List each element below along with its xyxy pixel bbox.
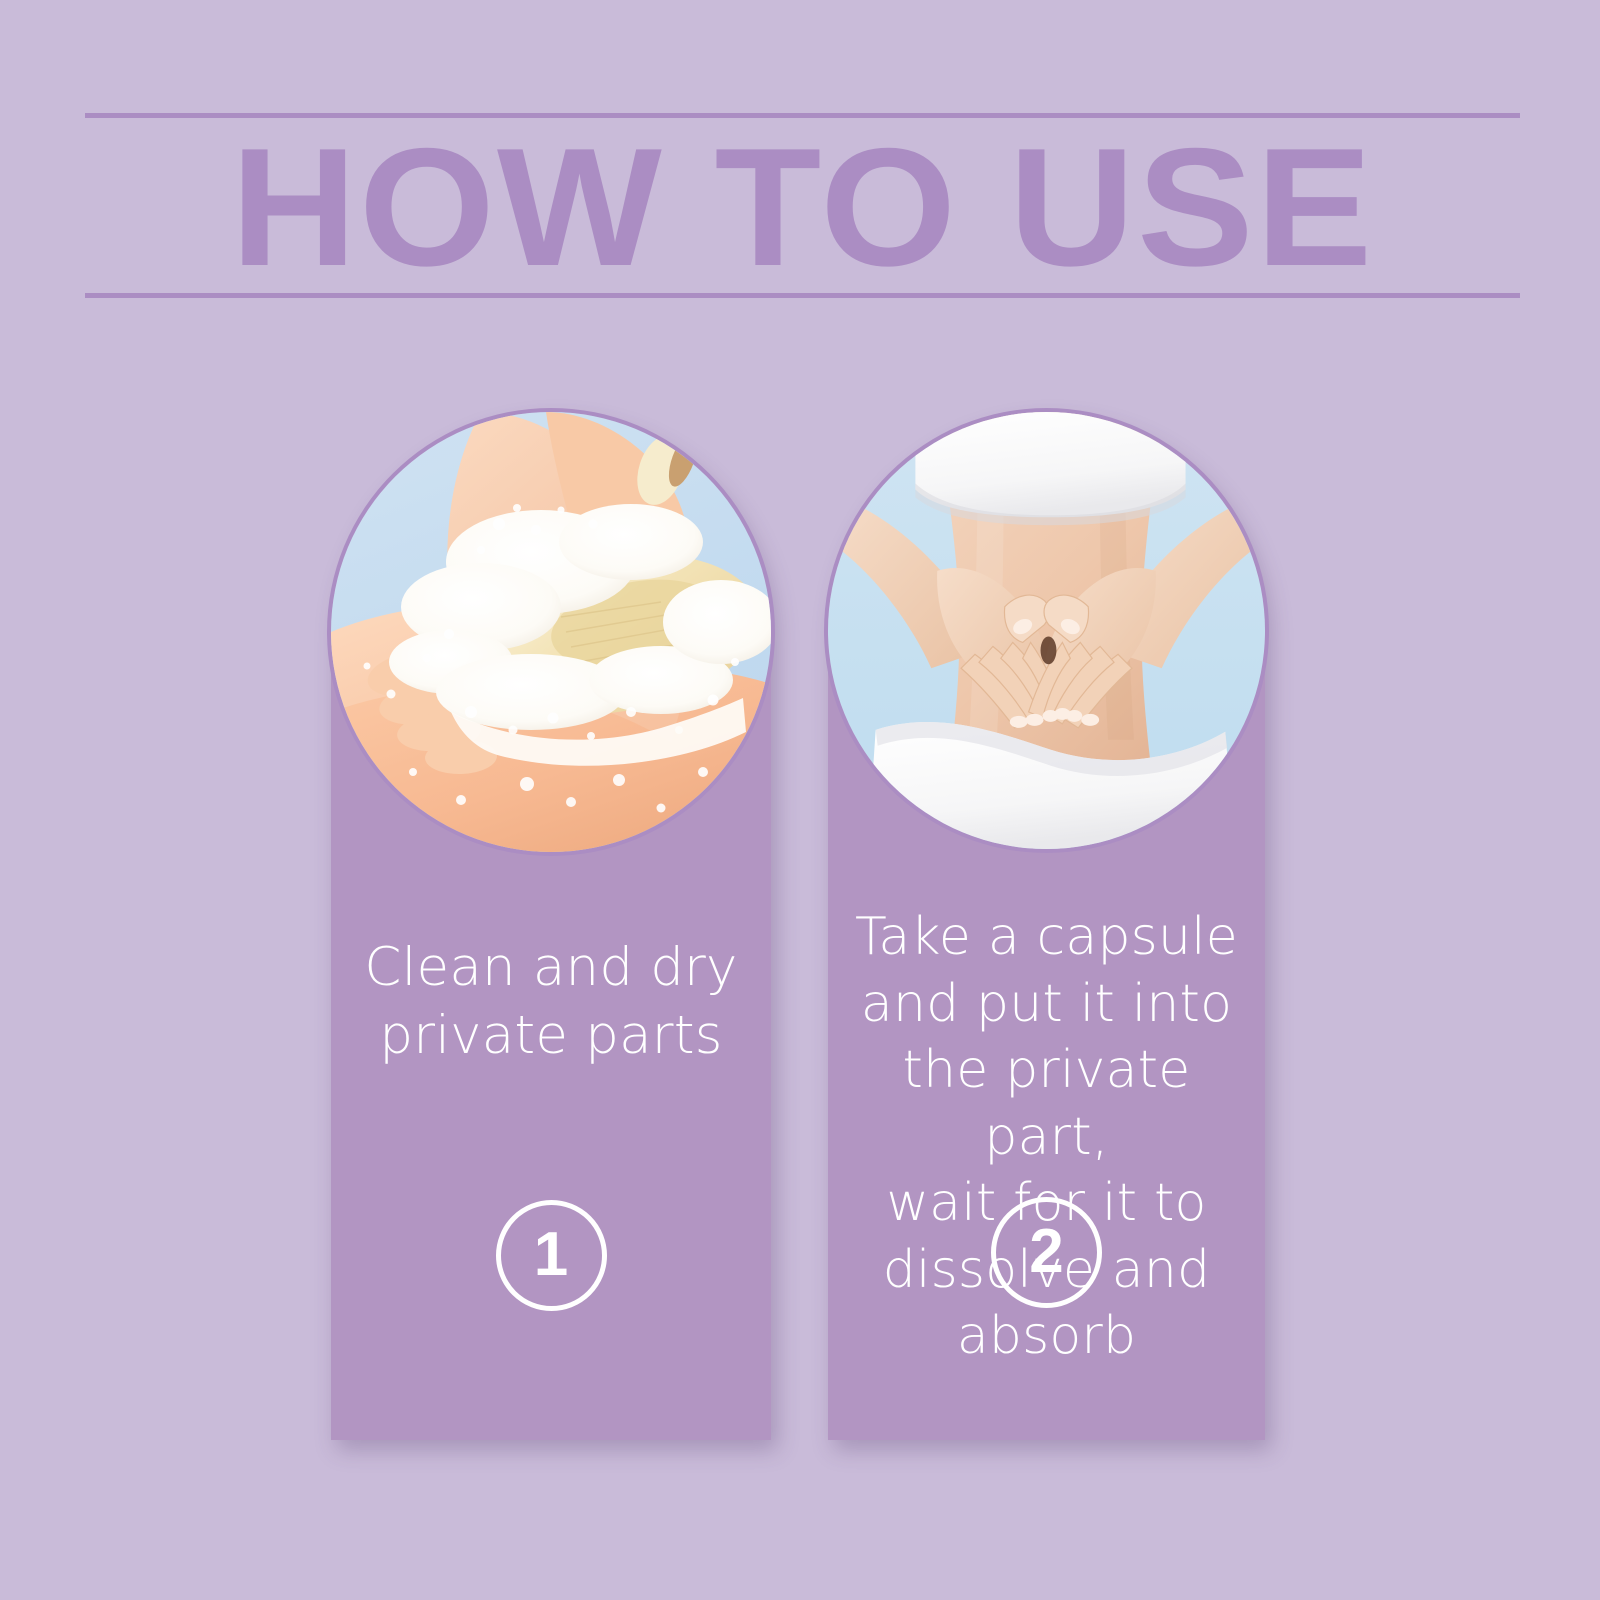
steps-container: 1 Clean and dry private parts xyxy=(0,0,1600,1600)
step-photo-2 xyxy=(828,412,1265,849)
step-photo-1 xyxy=(331,412,771,852)
abdomen-hands-heart-photo-icon xyxy=(828,412,1265,849)
soap-loofah-photo-icon xyxy=(331,412,771,852)
step-number-1: 1 xyxy=(534,1224,568,1286)
step-badge-1: 1 xyxy=(496,1200,607,1311)
step-card-2: 2 Take a capsule and put it into the pri… xyxy=(828,412,1265,1440)
how-to-use-poster: HOW TO USE xyxy=(0,0,1600,1600)
step-caption-2: Take a capsule and put it into the priva… xyxy=(850,904,1243,1370)
step-caption-1: Clean and dry private parts xyxy=(353,934,749,1070)
step-card-1: 1 Clean and dry private parts xyxy=(331,412,771,1440)
